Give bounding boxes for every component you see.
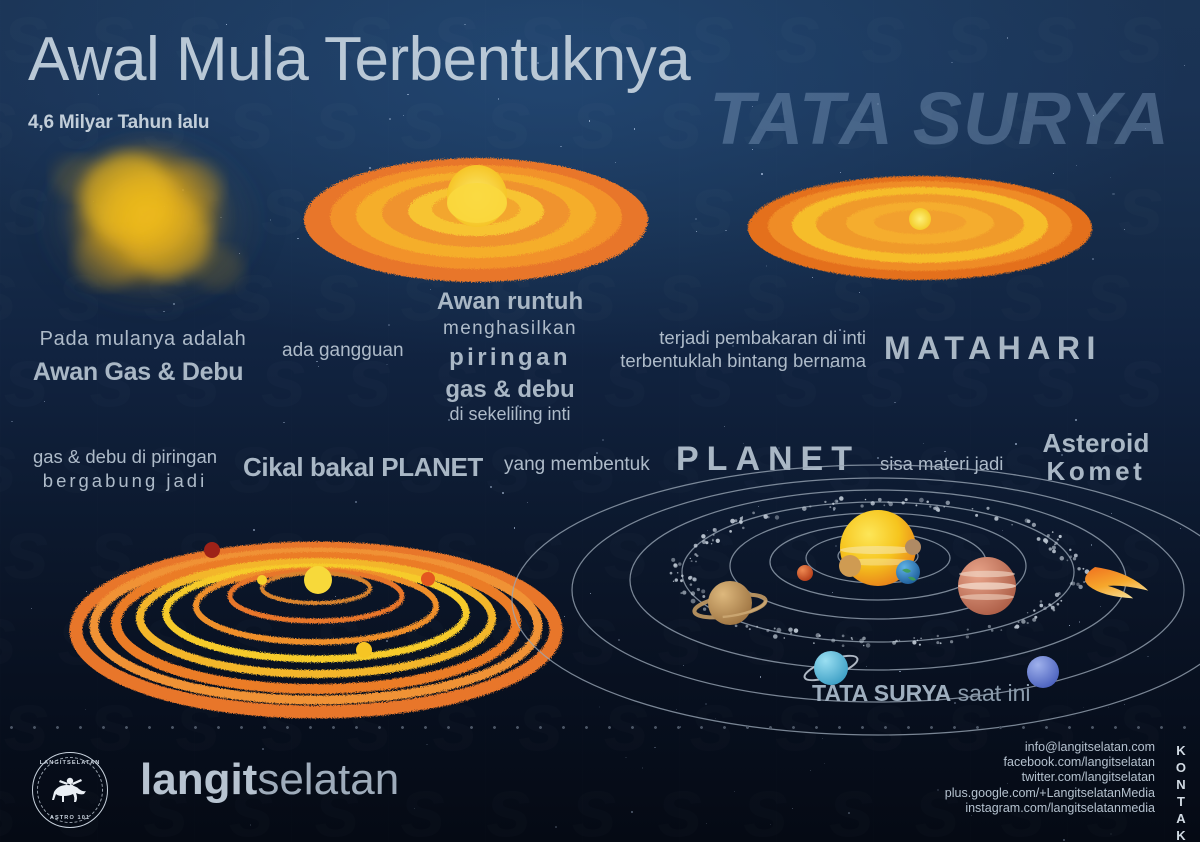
mercury <box>905 539 921 555</box>
kontak-letter: N <box>1176 776 1186 793</box>
contact-line[interactable]: twitter.com/langitselatan <box>945 770 1155 785</box>
caption-step3-line5: di sekeliling inti <box>410 404 610 425</box>
caption-step9-planet: PLANET <box>676 440 860 479</box>
caption-step2: ada gangguan <box>282 340 404 362</box>
contact-line[interactable]: instagram.com/langitselatanmedia <box>945 801 1155 816</box>
kontak-letter: T <box>1176 793 1186 810</box>
brand-light: selatan <box>257 755 399 804</box>
caption-step10: sisa materi jadi <box>880 453 1003 475</box>
seal-top-text: LANGITSELATAN <box>33 760 107 766</box>
sun <box>840 510 916 586</box>
caption-step8: yang membentuk <box>504 454 650 476</box>
protoplanet-yellow <box>356 642 372 658</box>
kontak-letter: K <box>1176 742 1186 759</box>
contact-line[interactable]: info@langitselatan.com <box>945 740 1155 755</box>
neptune <box>1027 656 1059 688</box>
jupiter <box>958 557 1016 615</box>
protoplanet-red <box>204 542 220 558</box>
infographic-poster: ssssssssssssssssssssssssssssssssssssssss… <box>0 0 1200 842</box>
diagram-caption: TATA SURYA saat ini <box>812 680 1031 707</box>
diagram-caption-bold: TATA SURYA <box>812 680 951 706</box>
caption-step5-matahari: MATAHARI <box>884 330 1102 367</box>
contact-line[interactable]: facebook.com/langitselatan <box>945 755 1155 770</box>
caption-step11-line2: Komet <box>1008 456 1184 487</box>
caption-step4-line2: terbentuklah bintang bernama <box>600 350 866 372</box>
mars <box>797 565 813 581</box>
protoplanet-small <box>257 575 267 585</box>
caption-step7: Cikal bakal PLANET <box>243 452 483 483</box>
protoplanetary-disk-stage2 <box>296 140 656 290</box>
caption-step11-line1: Asteroid <box>1008 428 1184 459</box>
earth <box>896 560 920 584</box>
saturn <box>693 581 767 625</box>
kontak-label: KONTAK <box>1176 742 1186 842</box>
comet <box>1082 563 1150 606</box>
kontak-letter: A <box>1176 810 1186 827</box>
kontak-letter: K <box>1176 827 1186 842</box>
protoplanetary-disk-stage3 <box>742 168 1098 288</box>
page-title-tata-surya: TATA SURYA <box>709 76 1170 161</box>
contact-list: info@langitselatan.comfacebook.com/langi… <box>945 740 1155 816</box>
asteroid-belt <box>670 496 1090 647</box>
caption-step6-line1: gas & debu di piringan <box>20 446 230 468</box>
protoplanet-orange <box>421 572 435 586</box>
langitselatan-logo-seal: LANGITSELATAN ASTRO 101 <box>32 752 108 828</box>
caption-step3-line1: Awan runtuh <box>410 288 610 316</box>
kontak-letter: O <box>1176 759 1186 776</box>
brand-bold: langit <box>140 755 257 804</box>
contact-line[interactable]: plus.google.com/+LangitselatanMedia <box>945 786 1155 801</box>
gas-dust-cloud-illustration <box>18 118 288 333</box>
caption-step6-line2: bergabung jadi <box>20 470 230 492</box>
caption-step3-line3: piringan <box>410 344 610 372</box>
brand-wordmark: langitselatan <box>140 758 399 802</box>
forming-planetary-system-illustration <box>66 508 566 708</box>
footer-divider <box>0 726 1200 729</box>
diagram-caption-light: saat ini <box>958 680 1031 706</box>
seal-bottom-text: ASTRO 101 <box>33 815 107 821</box>
caption-step4-line1: terjadi pembakaran di inti <box>600 327 866 349</box>
page-title: Awal Mula Terbentuknya <box>28 24 690 95</box>
protostar-core <box>304 566 332 594</box>
caption-step3-line4: gas & debu <box>410 376 610 404</box>
venus <box>839 555 861 577</box>
caption-step3-line2: menghasilkan <box>410 318 610 340</box>
centaur-icon <box>48 774 92 806</box>
caption-step1-line2: Awan Gas & Debu <box>8 358 268 387</box>
caption-step1-line1: Pada mulanya adalah <box>18 328 268 351</box>
page-subtitle: 4,6 Milyar Tahun lalu <box>28 112 209 134</box>
